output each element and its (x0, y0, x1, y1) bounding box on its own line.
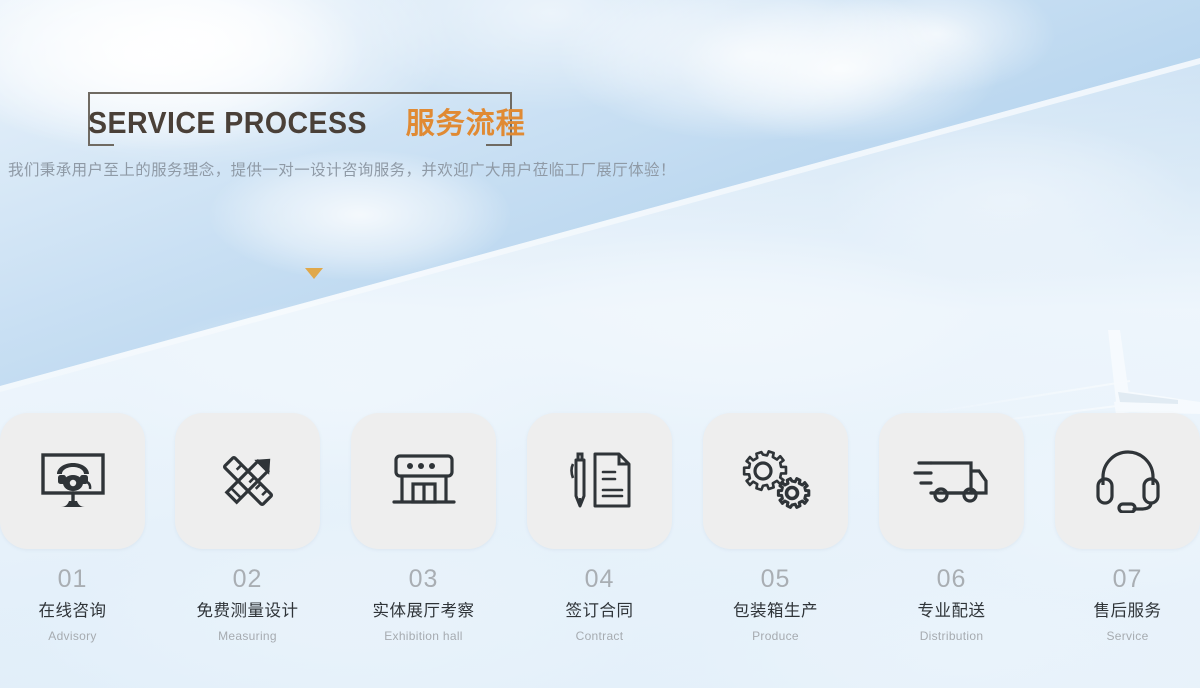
service-process-section: SERVICE PROCESS 服务流程 我们秉承用户至上的服务理念，提供一对一… (0, 0, 1200, 688)
step-label-cn: 包装箱生产 (703, 603, 848, 620)
headset-icon (1093, 449, 1163, 513)
ruler-pencil-icon (213, 448, 283, 514)
step-label-en: Distribution (879, 630, 1024, 642)
step-icon-card[interactable] (0, 413, 145, 549)
chevron-down-icon (305, 268, 323, 279)
pen-document-icon (565, 448, 635, 514)
step-label-cn: 签订合同 (527, 603, 672, 620)
step-number: 04 (527, 567, 672, 592)
step-label-en: Contract (527, 630, 672, 642)
step-label-en: Exhibition hall (351, 630, 496, 642)
step-label-cn: 售后服务 (1055, 603, 1200, 620)
step-icon-card[interactable] (527, 413, 672, 549)
step-icon-card[interactable] (175, 413, 320, 549)
process-step-05[interactable]: 05 包装箱生产 Produce (703, 413, 848, 642)
step-label-en: Service (1055, 630, 1200, 642)
step-number: 02 (175, 567, 320, 592)
process-step-02[interactable]: 02 免费测量设计 Measuring (175, 413, 320, 642)
process-step-01[interactable]: 01 在线咨询 Advisory (0, 413, 145, 642)
process-step-03[interactable]: 03 实体展厅考察 Exhibition hall (351, 413, 496, 642)
step-number: 06 (879, 567, 1024, 592)
process-step-04[interactable]: 04 签订合同 Contract (527, 413, 672, 642)
step-label-cn: 免费测量设计 (175, 603, 320, 620)
step-number: 03 (351, 567, 496, 592)
process-step-06[interactable]: 06 专业配送 Distribution (879, 413, 1024, 642)
delivery-truck-icon (913, 451, 991, 511)
title-chinese: 服务流程 (406, 108, 526, 140)
step-number: 05 (703, 567, 848, 592)
step-icon-card[interactable] (879, 413, 1024, 549)
storefront-icon (388, 450, 460, 512)
step-label-en: Measuring (175, 630, 320, 642)
section-subtitle: 我们秉承用户至上的服务理念，提供一对一设计咨询服务，并欢迎广大用户莅临工厂展厅体… (8, 158, 676, 180)
step-label-cn: 实体展厅考察 (351, 603, 496, 620)
title-english: SERVICE PROCESS (88, 105, 367, 141)
step-label-en: Advisory (0, 630, 145, 642)
process-step-07[interactable]: 07 售后服务 Service (1055, 413, 1200, 642)
step-icon-card[interactable] (351, 413, 496, 549)
step-label-cn: 专业配送 (879, 603, 1024, 620)
step-label-cn: 在线咨询 (0, 603, 145, 620)
step-label-en: Produce (703, 630, 848, 642)
gears-icon (739, 448, 813, 514)
process-steps-list: 01 在线咨询 Advisory 02 免费测量 (0, 413, 1200, 683)
page-title: SERVICE PROCESS 服务流程 (88, 100, 512, 142)
step-number: 01 (0, 567, 145, 592)
step-icon-card[interactable] (1055, 413, 1200, 549)
monitor-phone-icon (37, 449, 109, 513)
step-number: 07 (1055, 567, 1200, 592)
step-icon-card[interactable] (703, 413, 848, 549)
